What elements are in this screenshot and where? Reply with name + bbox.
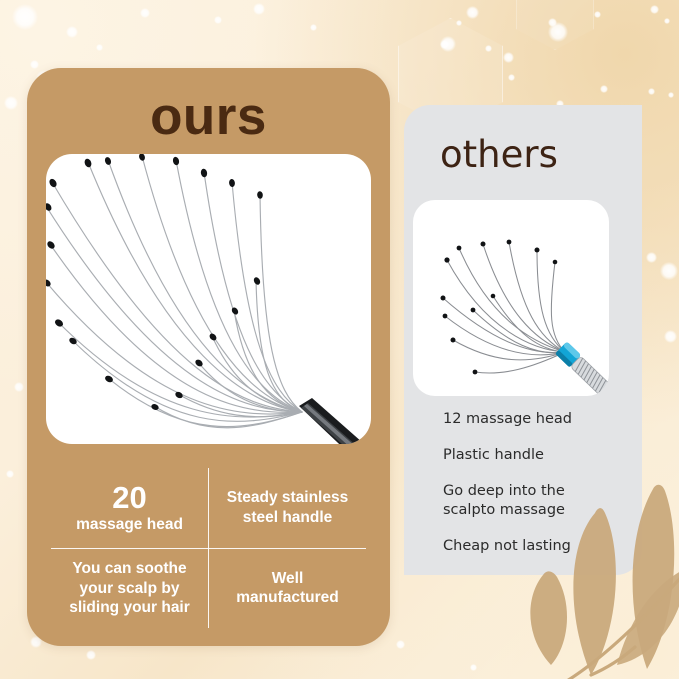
bokeh-dot bbox=[66, 26, 78, 38]
list-item: Plastic handle bbox=[443, 446, 633, 465]
steel-handle-line1: Steady stainless bbox=[227, 488, 348, 508]
bokeh-dot bbox=[646, 252, 657, 263]
leaf-decoration bbox=[495, 479, 679, 679]
comparison-infographic: others bbox=[0, 0, 679, 679]
bokeh-dot bbox=[140, 8, 150, 18]
massage-head-count: 20 bbox=[112, 481, 146, 515]
bokeh-dot bbox=[12, 4, 38, 30]
spring-handle bbox=[570, 356, 609, 396]
bokeh-dot bbox=[214, 16, 222, 24]
bokeh-dot bbox=[310, 24, 317, 31]
bokeh-dot bbox=[470, 664, 477, 671]
list-item-text: Plastic handle bbox=[443, 446, 633, 465]
well-line1: Well bbox=[272, 569, 304, 589]
bokeh-dot bbox=[14, 382, 24, 392]
bokeh-dot bbox=[664, 18, 670, 24]
ours-card: ours bbox=[27, 68, 390, 646]
bokeh-dot bbox=[6, 470, 14, 478]
feature-cell-well-manufactured: Well manufactured bbox=[209, 549, 366, 629]
bokeh-dot bbox=[648, 88, 655, 95]
feature-cell-steel-handle: Steady stainless steel handle bbox=[209, 468, 366, 548]
bokeh-dot bbox=[664, 330, 677, 343]
bokeh-dot bbox=[96, 44, 103, 51]
soothe-line2: your scalp by bbox=[80, 579, 180, 599]
bokeh-dot bbox=[30, 60, 39, 69]
soothe-line1: You can soothe bbox=[72, 559, 186, 579]
bokeh-dot bbox=[594, 11, 601, 18]
feature-cell-soothe-scalp: You can soothe your scalp by sliding you… bbox=[51, 549, 208, 629]
bokeh-dot bbox=[668, 92, 674, 98]
hexagon-decoration bbox=[516, 0, 594, 50]
black-handle bbox=[299, 398, 371, 444]
bokeh-dot bbox=[86, 650, 96, 660]
bokeh-dot bbox=[4, 96, 18, 110]
bokeh-dot bbox=[600, 85, 608, 93]
list-item-text: 12 massage head bbox=[443, 410, 633, 429]
others-massager-illustration bbox=[413, 200, 609, 396]
bokeh-dot bbox=[503, 52, 514, 63]
well-line2: manufactured bbox=[236, 588, 339, 608]
soothe-line3: sliding your hair bbox=[69, 598, 190, 618]
others-title: others bbox=[440, 133, 558, 177]
bokeh-dot bbox=[466, 6, 479, 19]
bokeh-dot bbox=[396, 640, 405, 649]
bokeh-dot bbox=[253, 3, 265, 15]
feature-cell-massage-head: 20 massage head bbox=[51, 468, 208, 548]
ours-title: ours bbox=[27, 82, 390, 152]
ours-massager-illustration bbox=[46, 154, 371, 444]
ours-product-image bbox=[46, 154, 371, 444]
list-item: 12 massage head bbox=[443, 410, 633, 429]
bokeh-dot bbox=[660, 262, 678, 280]
ours-feature-grid: 20 massage head Steady stainless steel h… bbox=[51, 468, 366, 628]
steel-handle-line2: steel handle bbox=[243, 508, 333, 528]
massage-head-label: massage head bbox=[76, 515, 183, 534]
bokeh-dot bbox=[508, 74, 515, 81]
others-product-image bbox=[413, 200, 609, 396]
bokeh-dot bbox=[650, 5, 659, 14]
